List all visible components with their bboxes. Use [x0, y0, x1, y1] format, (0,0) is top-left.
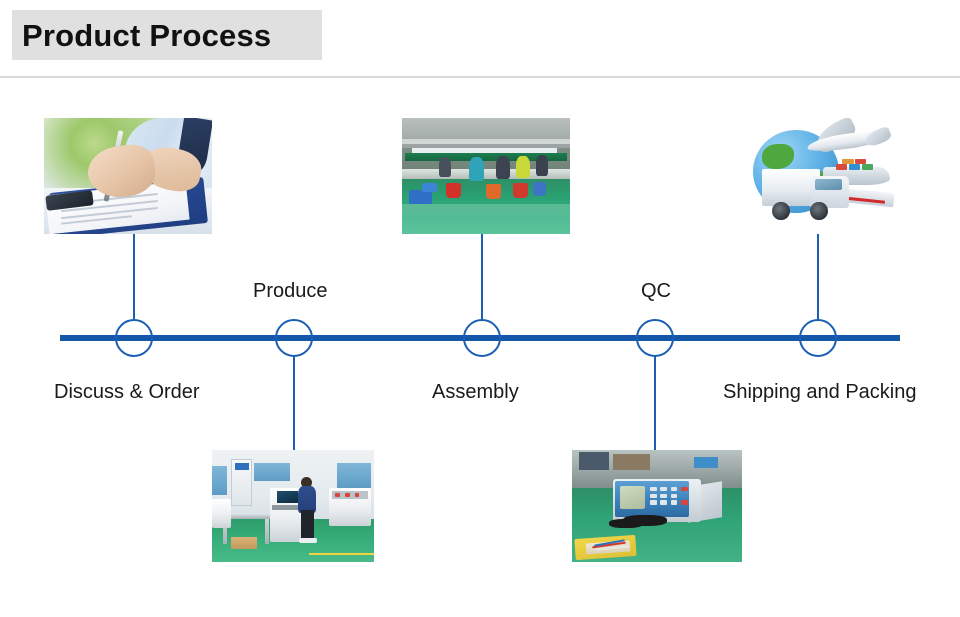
- photo2-stool: [486, 184, 501, 199]
- photo3-truck-wheel: [772, 202, 790, 221]
- photo5-cable-bundle: [609, 519, 643, 528]
- timeline-node-assembly[interactable]: [463, 319, 501, 357]
- photo4-equipment: [212, 499, 231, 528]
- photo3-container: [849, 164, 860, 170]
- connector-discuss-order: [133, 234, 135, 320]
- photo5-keypad-key: [650, 500, 657, 504]
- photo4-machine-button: [355, 493, 360, 497]
- photo5-back-bin: [694, 457, 718, 468]
- timeline-node-shipping[interactable]: [799, 319, 837, 357]
- connector-shipping: [817, 234, 819, 320]
- photo4-wall-panel: [337, 463, 371, 488]
- timeline-label-discuss-order: Discuss & Order: [54, 382, 200, 402]
- photo4-machine-button: [345, 493, 350, 497]
- timeline-node-qc[interactable]: [636, 319, 674, 357]
- photo3-truck-window: [815, 179, 842, 189]
- photo5-keypad-key: [650, 487, 657, 491]
- photo3-truck-wheel: [810, 202, 828, 221]
- photo2-light-strip: [412, 148, 556, 153]
- photo5-keypad-key-red: [681, 487, 688, 491]
- photo5-keypad-key: [660, 494, 667, 498]
- photo4-floor-marking: [309, 553, 374, 555]
- process-photo-discuss-order: [44, 118, 212, 234]
- photo4-worker-body: [298, 486, 316, 513]
- photo5-keypad-key-red: [681, 500, 688, 504]
- header-divider: [0, 76, 960, 78]
- photo2-crate: [422, 183, 437, 192]
- photo4-wall-panel: [212, 466, 227, 495]
- timeline-label-produce: Produce: [253, 281, 328, 301]
- photo4-notice-header: [235, 463, 250, 470]
- photo4-table-leg: [265, 519, 268, 544]
- photo2-stool: [446, 183, 461, 198]
- process-photo-shipping: [740, 118, 900, 234]
- photo2-ceiling: [402, 118, 570, 148]
- connector-qc: [654, 356, 656, 450]
- photo5-keypad-key: [660, 487, 667, 491]
- connector-produce: [293, 356, 295, 450]
- photo5-keypad-key: [671, 500, 678, 504]
- photo4-worker-shoes: [299, 538, 317, 542]
- photo4-worker-legs: [301, 510, 314, 539]
- photo4-carton-box: [231, 537, 257, 548]
- photo2-stool: [533, 182, 546, 196]
- timeline-node-produce[interactable]: [275, 319, 313, 357]
- timeline-label-qc: QC: [641, 281, 671, 301]
- photo5-keypad-key: [660, 500, 667, 504]
- photo4-machine-screen: [277, 491, 298, 502]
- photo3-container: [855, 159, 866, 165]
- photo3-container: [862, 164, 873, 170]
- photo5-instrument-display: [620, 486, 646, 510]
- photo3-container: [842, 159, 853, 165]
- photo5-keypad-key: [671, 494, 678, 498]
- photo4-wall-panel: [254, 463, 290, 481]
- photo2-ceiling-beam: [402, 139, 570, 144]
- connector-assembly: [481, 234, 483, 320]
- photo4-machine-button: [335, 493, 340, 497]
- timeline-label-shipping: Shipping and Packing: [723, 382, 916, 402]
- photo5-back-object: [579, 452, 610, 470]
- page-title: Product Process: [22, 20, 271, 51]
- photo5-keypad-key: [671, 487, 678, 491]
- process-photo-assembly: [402, 118, 570, 234]
- photo5-back-shelf: [613, 454, 650, 470]
- photo2-stool: [513, 183, 528, 198]
- timeline-label-assembly: Assembly: [432, 382, 519, 402]
- timeline-node-discuss-order[interactable]: [115, 319, 153, 357]
- photo5-keypad-key: [650, 494, 657, 498]
- process-photo-qc: [572, 450, 742, 562]
- photo2-floor-reflection: [402, 204, 570, 234]
- photo2-worker: [536, 155, 548, 176]
- process-photo-produce: [212, 450, 374, 562]
- photo2-worker: [439, 157, 451, 177]
- photo2-worker: [516, 156, 529, 178]
- page-title-box: Product Process: [12, 10, 322, 60]
- photo2-worker: [496, 156, 509, 179]
- product-process-slide: Product Process: [0, 0, 960, 617]
- photo3-container: [836, 164, 847, 170]
- photo2-worker: [469, 157, 484, 180]
